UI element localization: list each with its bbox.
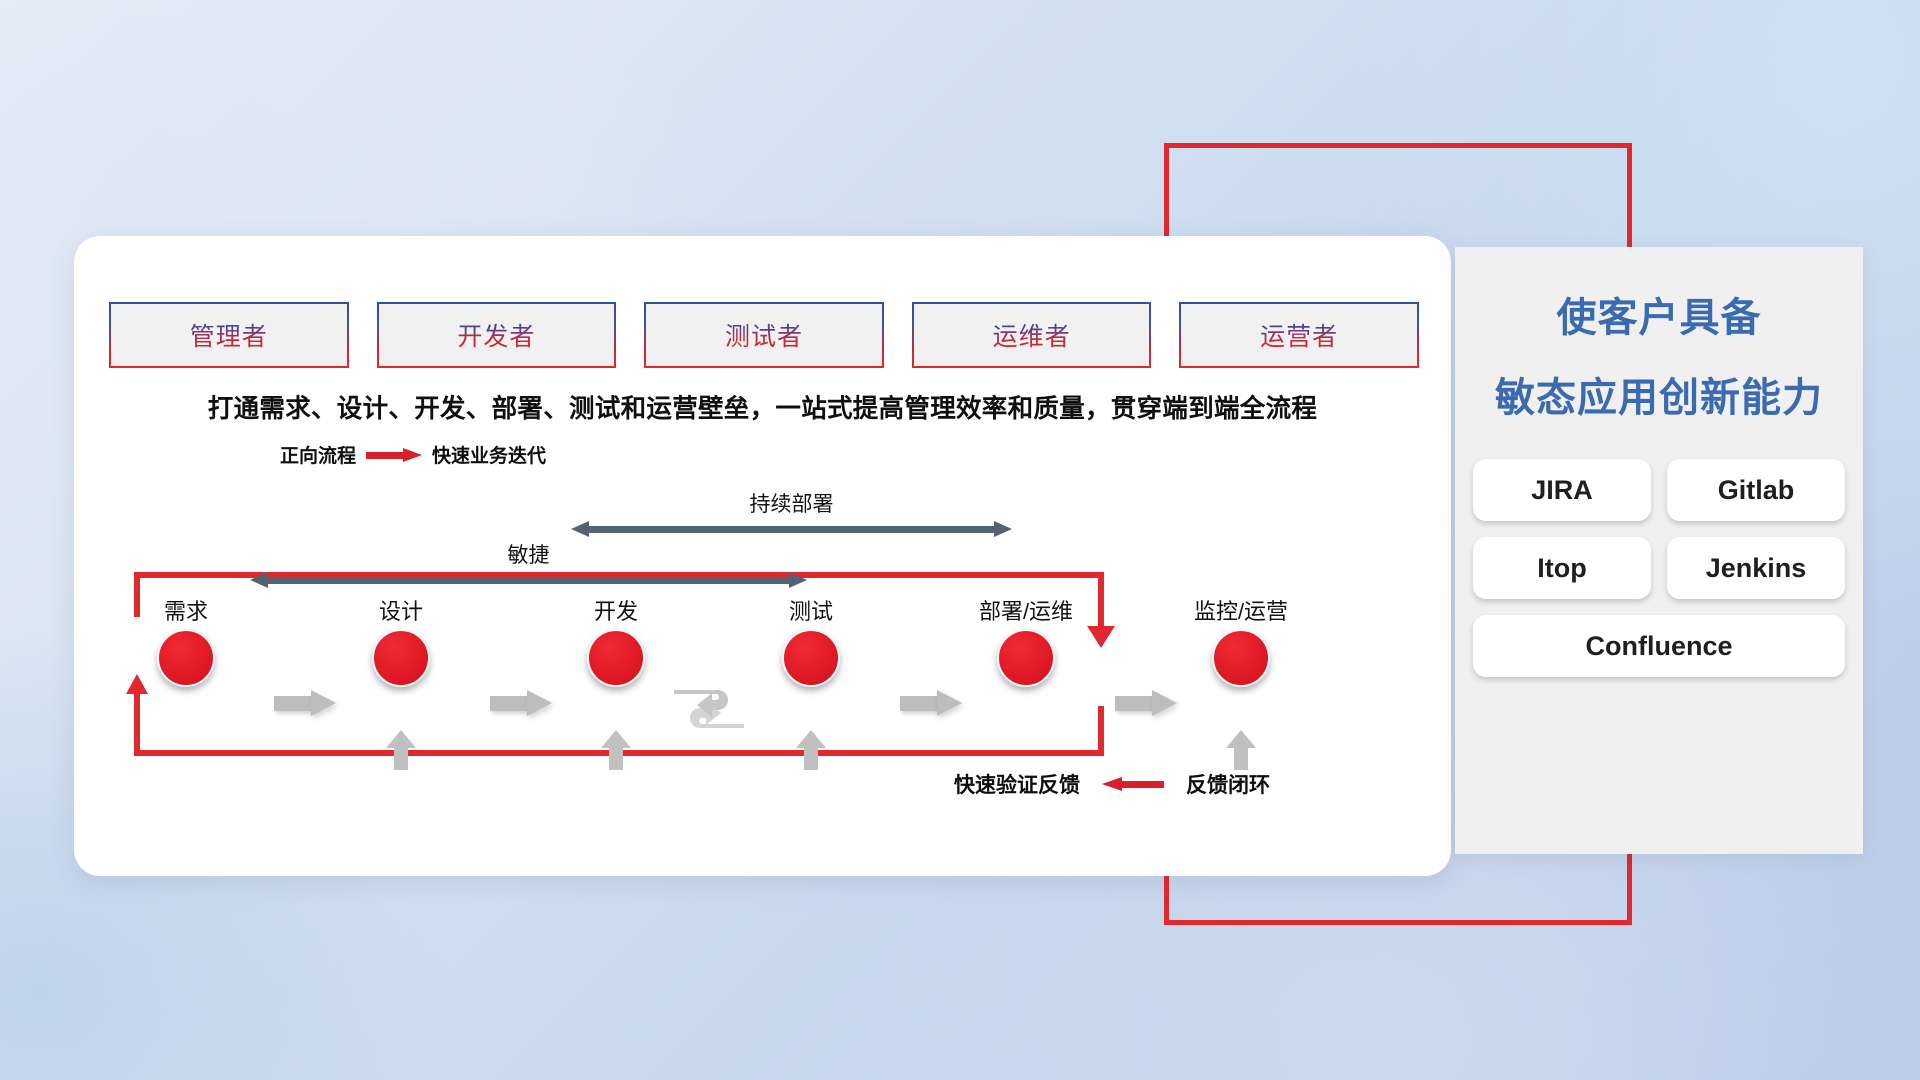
tool-chip-label: JIRA bbox=[1531, 475, 1593, 506]
stage-bubble-icon bbox=[587, 629, 645, 687]
forward-flow-right-label: 快速业务迭代 bbox=[432, 441, 546, 468]
continuous-deployment-span: 持续部署 bbox=[571, 488, 1012, 537]
forward-flow-left-label: 正向流程 bbox=[280, 441, 356, 468]
devops-flow-card: 管理者 开发者 测试者 运维者 运营者 打通需求、设计、开发、部署、测试和运营壁… bbox=[74, 236, 1451, 876]
stage-label: 设计 bbox=[331, 594, 471, 626]
forward-flow-legend: 正向流程 快速业务迭代 bbox=[280, 441, 546, 468]
panel-title-line1: 使客户具备 bbox=[1455, 285, 1863, 343]
tool-chip-jenkins[interactable]: Jenkins bbox=[1667, 537, 1845, 599]
pipeline-stage-deploy-ops[interactable]: 部署/运维 bbox=[956, 594, 1096, 687]
gray-arrow-4-icon bbox=[1115, 690, 1177, 716]
feedback-left-label: 快速验证反馈 bbox=[954, 769, 1080, 799]
role-box-ops[interactable]: 运维者 bbox=[912, 302, 1152, 368]
tool-chip-jira[interactable]: JIRA bbox=[1473, 459, 1651, 521]
role-box-row: 管理者 开发者 测试者 运维者 运营者 bbox=[109, 302, 1419, 368]
stage-bubble-icon bbox=[372, 629, 430, 687]
stage-bubble-icon bbox=[1212, 629, 1270, 687]
stage-label: 需求 bbox=[116, 594, 256, 626]
double-arrow-icon bbox=[250, 572, 807, 588]
arrow-head-right-icon bbox=[527, 690, 552, 716]
arrow-shaft bbox=[274, 696, 314, 711]
stage-bubble-icon bbox=[782, 629, 840, 687]
tool-chip-label: Jenkins bbox=[1706, 553, 1807, 584]
feedback-up-arrow-design-icon bbox=[394, 746, 408, 770]
arrow-head-right-icon bbox=[789, 572, 807, 588]
tool-chip-confluence[interactable]: Confluence bbox=[1473, 615, 1845, 677]
devops-pipeline: 需求 设计 开发 bbox=[116, 594, 1406, 744]
pipeline-stage-design[interactable]: 设计 bbox=[331, 594, 471, 687]
tool-chip-gitlab[interactable]: Gitlab bbox=[1667, 459, 1845, 521]
stage-bubble-icon bbox=[157, 629, 215, 687]
arrow-shaft bbox=[266, 577, 791, 584]
role-box-manager[interactable]: 管理者 bbox=[109, 302, 349, 368]
feedback-loop-legend: 快速验证反馈 反馈闭环 bbox=[954, 769, 1270, 799]
stage-label: 测试 bbox=[741, 594, 881, 626]
role-label: 运营者 bbox=[1260, 317, 1338, 353]
arrow-shaft bbox=[587, 526, 996, 533]
arrow-head-right-icon bbox=[994, 521, 1012, 537]
role-label: 运维者 bbox=[993, 317, 1071, 353]
feedback-right-label: 反馈闭环 bbox=[1186, 769, 1270, 799]
role-label: 测试者 bbox=[725, 317, 803, 353]
tool-chip-label: Gitlab bbox=[1718, 475, 1795, 506]
double-arrow-icon bbox=[571, 521, 1012, 537]
gray-arrow-2-icon bbox=[490, 690, 552, 716]
arrow-shaft bbox=[1115, 696, 1155, 711]
stage-label: 部署/运维 bbox=[956, 594, 1096, 626]
role-label: 开发者 bbox=[457, 317, 535, 353]
value-proposition-panel: 使客户具备 敏态应用创新能力 JIRA Gitlab Itop Jenkins … bbox=[1455, 247, 1863, 854]
stage-label: 开发 bbox=[546, 594, 686, 626]
continuous-deployment-label: 持续部署 bbox=[571, 488, 1012, 518]
pipeline-stage-monitor-operations[interactable]: 监控/运营 bbox=[1171, 594, 1311, 687]
tool-chip-label: Itop bbox=[1537, 553, 1586, 584]
feedback-up-arrow-development-icon bbox=[609, 746, 623, 770]
gray-arrow-1-icon bbox=[274, 690, 336, 716]
feedback-down-stem-monitoring-icon bbox=[1234, 746, 1248, 770]
gray-arrow-3-icon bbox=[900, 690, 962, 716]
slide-canvas: 管理者 开发者 测试者 运维者 运营者 打通需求、设计、开发、部署、测试和运营壁… bbox=[0, 0, 1920, 1080]
role-label: 管理者 bbox=[190, 317, 268, 353]
agile-label: 敏捷 bbox=[250, 539, 807, 569]
tool-chip-list: JIRA Gitlab Itop Jenkins Confluence bbox=[1473, 459, 1845, 677]
role-box-operations[interactable]: 运营者 bbox=[1179, 302, 1419, 368]
card-subtitle: 打通需求、设计、开发、部署、测试和运营壁垒，一站式提高管理效率和质量，贯穿端到端… bbox=[74, 388, 1451, 425]
arrow-head-right-icon bbox=[311, 690, 336, 716]
panel-title-line2: 敏态应用创新能力 bbox=[1455, 365, 1863, 423]
arrow-left-red-icon bbox=[1102, 777, 1164, 791]
arrow-head-right-icon bbox=[937, 690, 962, 716]
loop-back-arrow-icon bbox=[670, 678, 748, 740]
tool-chip-label: Confluence bbox=[1585, 631, 1732, 662]
arrow-shaft bbox=[900, 696, 940, 711]
pipeline-stage-requirements[interactable]: 需求 bbox=[116, 594, 256, 687]
role-box-tester[interactable]: 测试者 bbox=[644, 302, 884, 368]
feedback-up-arrow-testing-icon bbox=[804, 746, 818, 770]
arrow-head-right-icon bbox=[1152, 690, 1177, 716]
tool-chip-itop[interactable]: Itop bbox=[1473, 537, 1651, 599]
arrow-right-red-icon bbox=[366, 448, 422, 462]
pipeline-stage-testing[interactable]: 测试 bbox=[741, 594, 881, 687]
stage-bubble-icon bbox=[997, 629, 1055, 687]
pipeline-stage-development[interactable]: 开发 bbox=[546, 594, 686, 687]
role-box-developer[interactable]: 开发者 bbox=[377, 302, 617, 368]
arrow-shaft bbox=[490, 696, 530, 711]
agile-span: 敏捷 bbox=[250, 539, 807, 588]
stage-label: 监控/运营 bbox=[1171, 594, 1311, 626]
